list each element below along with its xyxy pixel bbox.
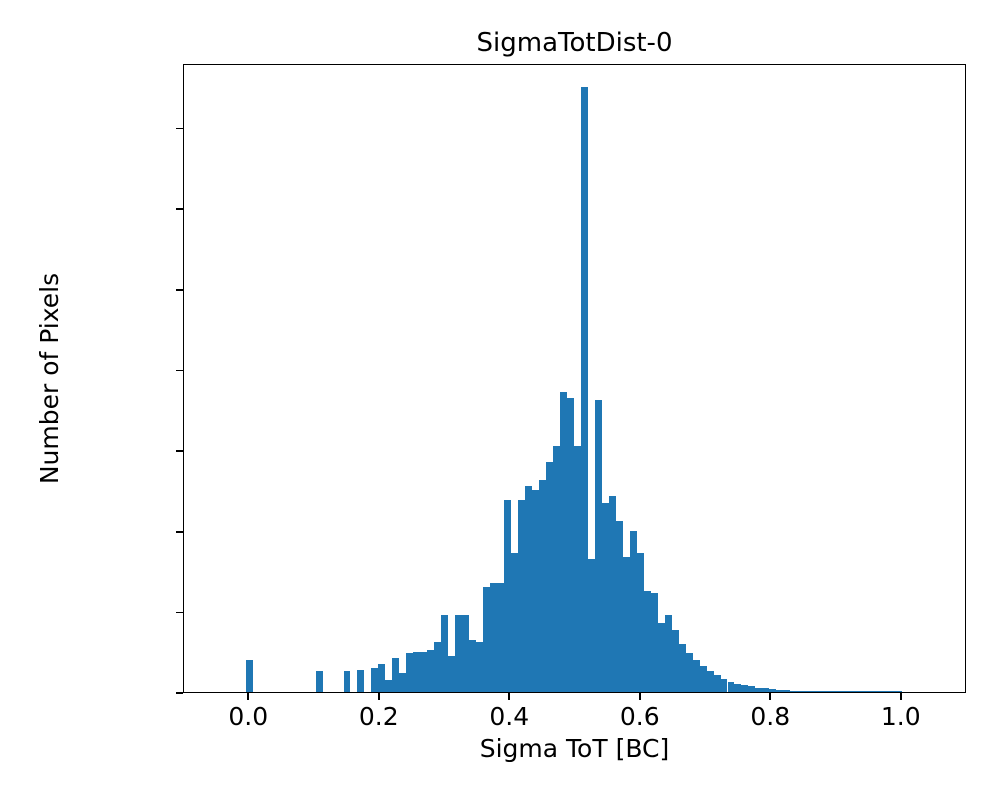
histogram-bar [839,691,846,692]
histogram-bar [846,691,853,692]
histogram-bar [525,486,532,692]
histogram-bar [776,690,783,692]
histogram-bar [630,531,637,692]
histogram-bar [658,623,665,692]
histogram-bar [748,686,755,692]
histogram-bar [888,691,895,692]
histogram-bar [707,671,714,692]
y-axis-label: Number of Pixels [30,64,70,693]
histogram-bar [832,691,839,692]
histogram-bar [392,658,399,692]
x-tick-mark [900,693,902,700]
y-tick-mark [176,450,183,452]
histogram-bar [518,500,525,692]
matplotlib-figure: SigmaTotDist-0 0200040006000800010000120… [0,0,1000,800]
x-tick-mark [508,693,510,700]
histogram-bar [609,496,616,692]
histogram-bar [783,690,790,692]
y-tick-mark [176,531,183,533]
histogram-bar [462,615,469,692]
histogram-bar [434,642,441,692]
histogram-bar [790,691,797,692]
y-tick-mark [176,692,183,694]
histogram-bar [602,503,609,693]
histogram-bar [797,691,804,692]
x-tick-mark [639,693,641,700]
histogram-bar [665,615,672,692]
x-tick-mark [769,693,771,700]
histogram-bar [741,685,748,692]
x-tick-mark [247,693,249,700]
histogram-bar [316,671,323,692]
histogram-bar [818,691,825,692]
histogram-bar [616,521,623,692]
histogram-bar [476,642,483,692]
histogram-bar [490,583,497,692]
histogram-bar [644,591,651,692]
y-tick-mark [176,208,183,210]
histogram-bar [881,691,888,692]
histogram-bar [420,652,427,692]
histogram-bar [441,615,448,692]
histogram-bar [714,675,721,692]
histogram-bar [693,660,700,692]
histogram-bar [867,691,874,692]
histogram-bar [497,583,504,692]
histogram-bar [539,480,546,692]
x-tick-label: 1.0 [821,703,981,731]
histogram-bar [344,671,351,692]
histogram-bar [511,553,518,692]
histogram-bar [399,673,406,692]
histogram-bar [874,691,881,692]
histogram-bar [560,392,567,692]
histogram-bar [469,640,476,692]
histogram-bar [385,680,392,692]
histogram-bar [553,446,560,692]
histogram-bar [532,490,539,692]
y-tick-mark [176,289,183,291]
histogram-bar [427,650,434,692]
histogram-bar [762,688,769,692]
histogram-bar [651,593,658,692]
histogram-bar [378,664,385,692]
histogram-bar [700,666,707,692]
histogram-bar [448,656,455,692]
y-tick-mark [176,128,183,130]
histogram-bar [588,559,595,692]
x-tick-mark [378,693,380,700]
histogram-bar [504,500,511,692]
histogram-bar [413,652,420,692]
y-tick-mark [176,612,183,614]
histogram-bar [246,660,253,692]
y-tick-mark [176,370,183,372]
histogram-bar [804,691,811,692]
histogram-bar [483,587,490,692]
histogram-bar [623,557,630,692]
histogram-bar [769,689,776,692]
histogram-bar [567,398,574,692]
x-axis-label: Sigma ToT [BC] [183,735,966,763]
histogram-bar [574,446,581,692]
page-title: SigmaTotDist-0 [183,28,966,58]
histogram-bar [853,691,860,692]
histogram-bar [734,684,741,692]
histogram-bar [672,630,679,693]
plot-area [183,64,966,693]
histogram-bar [811,691,818,692]
histogram-bars [184,65,965,692]
histogram-bar [679,644,686,692]
histogram-bar [860,691,867,692]
histogram-bar [581,87,588,692]
histogram-bar [637,553,644,692]
histogram-bar [895,691,902,692]
histogram-bar [721,679,728,692]
histogram-bar [595,400,602,692]
histogram-bar [755,688,762,692]
histogram-bar [357,670,364,692]
histogram-bar [728,682,735,692]
histogram-bar [686,653,693,693]
histogram-bar [455,615,462,692]
histogram-bar [406,653,413,692]
histogram-bar [371,668,378,692]
histogram-bar [546,462,553,692]
histogram-bar [825,691,832,692]
